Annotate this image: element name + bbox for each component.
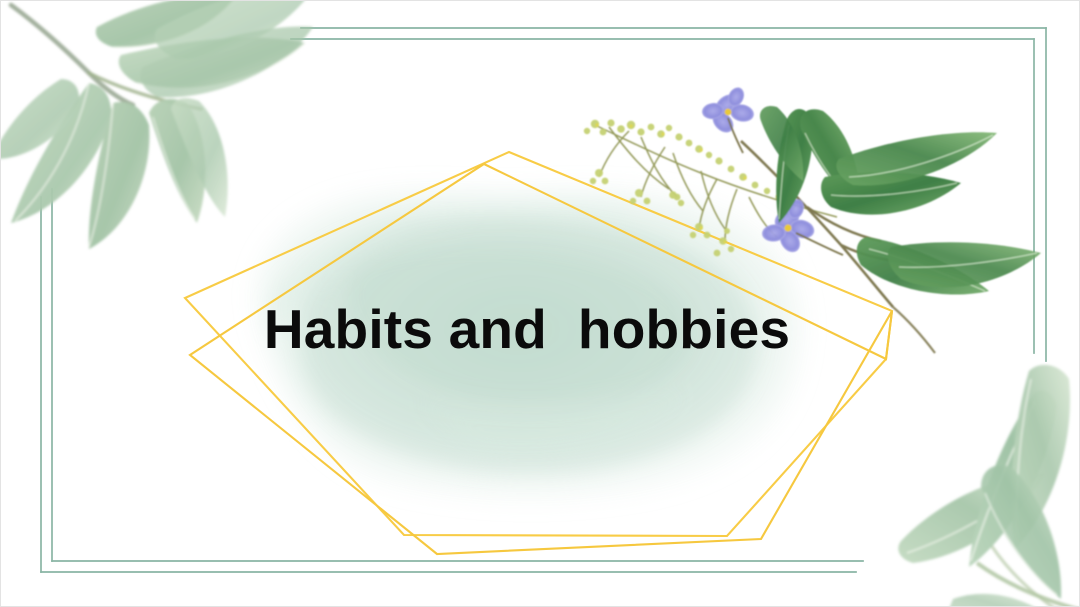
title-slide: Habits and hobbies xyxy=(0,0,1080,607)
purple-flower-lower xyxy=(761,197,843,256)
purple-flower-upper xyxy=(701,85,756,153)
title-block: Habits and hobbies xyxy=(1,301,1080,359)
page-title: Habits and hobbies xyxy=(264,301,790,359)
